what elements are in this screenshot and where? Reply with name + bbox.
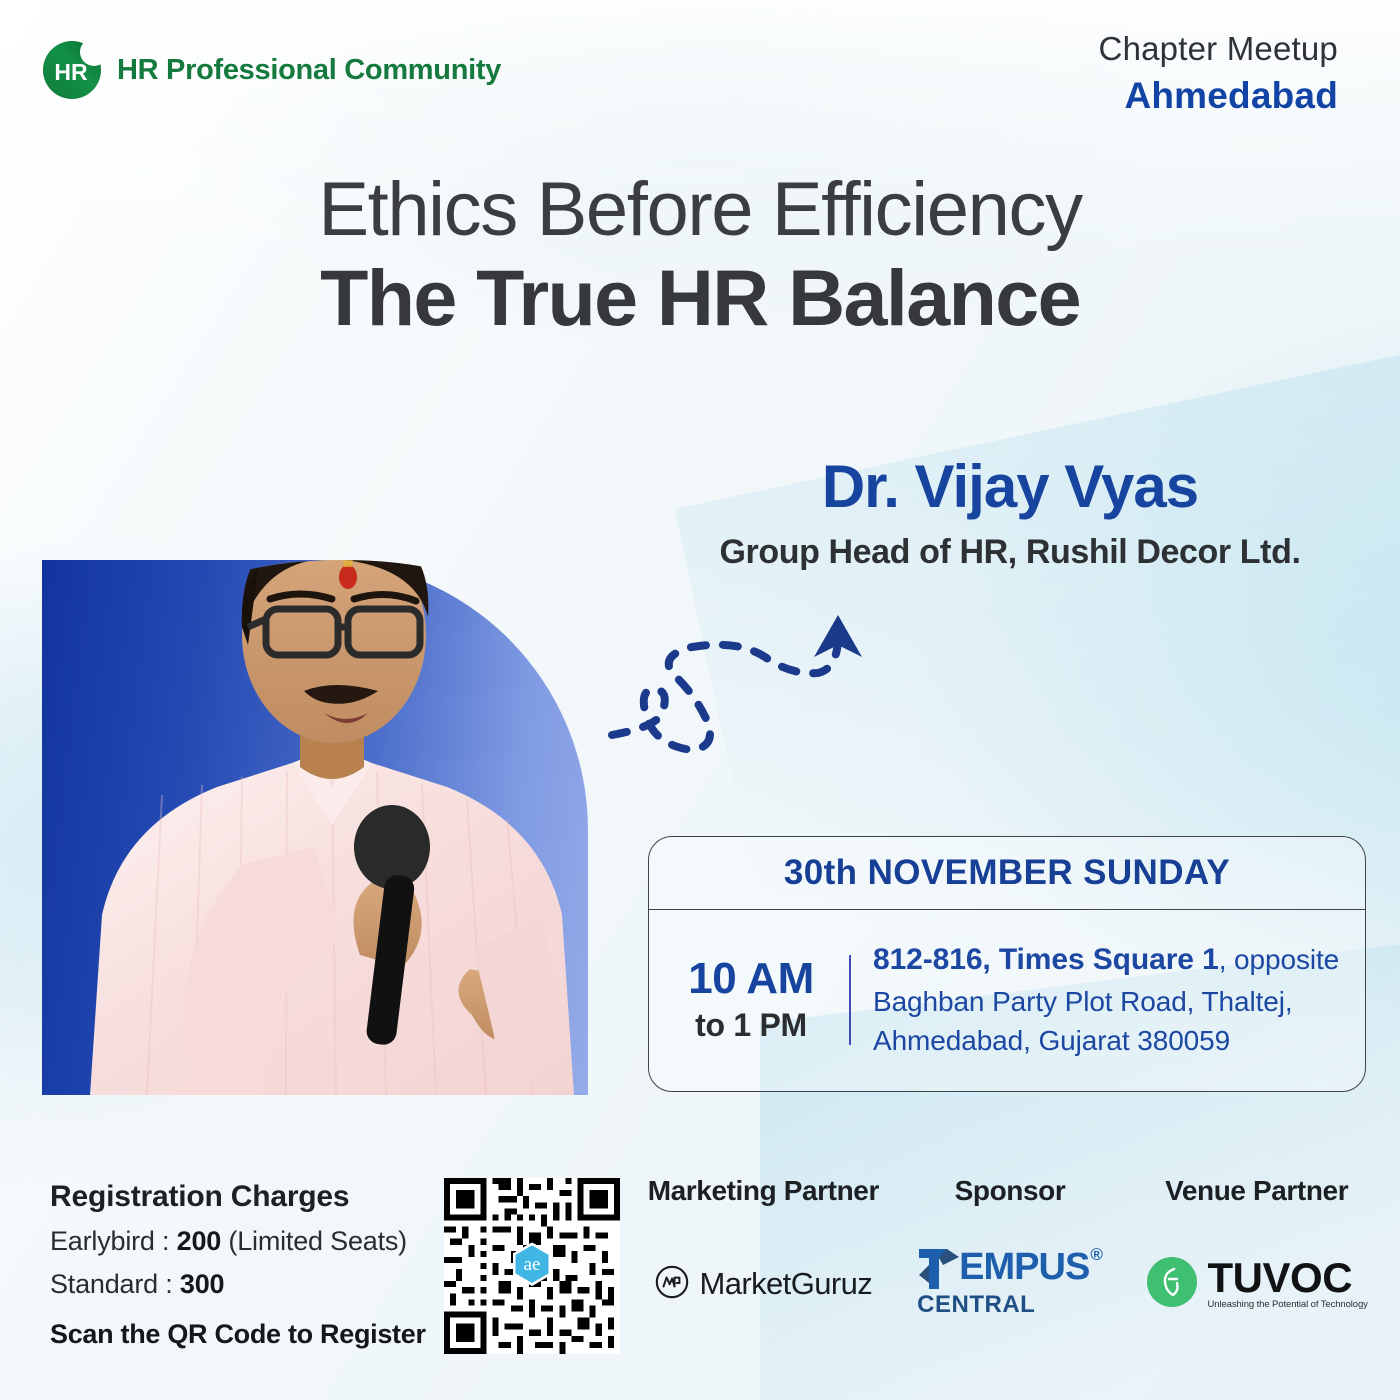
event-address: 812-816, Times Square 1, opposite Baghba… (851, 939, 1339, 1061)
standard-row: Standard : 300 (50, 1269, 430, 1300)
address-line-1-rest: , opposite (1219, 944, 1339, 975)
earlybird-row: Earlybird : 200 (Limited Seats) (50, 1226, 430, 1257)
marketguruz-logo: MarketGuruz (640, 1253, 887, 1315)
dashed-arrow-icon (600, 595, 900, 795)
meetup-kicker: Chapter Meetup (1099, 30, 1338, 69)
speaker-info: Dr. Vijay Vyas Group Head of HR, Rushil … (660, 455, 1360, 573)
tempus-word: EMPUS (959, 1249, 1089, 1285)
partner-marketing: Marketing Partner MarketGuruz (640, 1175, 887, 1315)
partner-heading: Marketing Partner (640, 1175, 887, 1207)
event-time: 10 AM to 1 PM (667, 955, 851, 1045)
registration-title: Registration Charges (50, 1180, 430, 1214)
tuvoc-word: TUVOC (1208, 1254, 1353, 1301)
scan-instruction: Scan the QR Code to Register (50, 1319, 430, 1350)
partner-heading: Venue Partner (1133, 1175, 1380, 1207)
event-poster: HR HR Professional Community Chapter Mee… (0, 0, 1400, 1400)
qr-code[interactable]: ae (444, 1178, 620, 1354)
time-end: to 1 PM (667, 1005, 835, 1045)
standard-value: 300 (180, 1269, 224, 1299)
address-line-2: Baghban Party Plot Road, Thaltej, (873, 982, 1339, 1022)
speaker-photo-block (42, 395, 618, 1095)
meetup-city: Ahmedabad (1099, 73, 1338, 119)
tuvoc-leaf-icon (1146, 1256, 1198, 1313)
registration-charges: Registration Charges Earlybird : 200 (Li… (50, 1180, 430, 1350)
page-title: Ethics Before Efficiency The True HR Bal… (0, 170, 1400, 341)
earlybird-value: 200 (177, 1226, 221, 1256)
tuvoc-logo: TUVOC Unleashing the Potential of Techno… (1133, 1253, 1380, 1315)
address-line-3: Ahmedabad, Gujarat 380059 (873, 1021, 1339, 1061)
tempus-t-icon (917, 1249, 959, 1291)
speaker-photo (42, 395, 618, 1095)
speaker-role: Group Head of HR, Rushil Decor Ltd. (660, 532, 1360, 573)
svg-text:ae: ae (524, 1254, 541, 1275)
partner-venue: Venue Partner TUVOC Unleashing the Poten… (1133, 1175, 1380, 1315)
standard-label: Standard : (50, 1269, 180, 1299)
partner-heading: Sponsor (887, 1175, 1134, 1207)
earlybird-note: (Limited Seats) (221, 1226, 407, 1256)
chapter-meetup-block: Chapter Meetup Ahmedabad (1099, 30, 1338, 119)
tuvoc-tagline: Unleashing the Potential of Technology (1208, 1299, 1368, 1310)
brand-name: HR Professional Community (117, 54, 501, 87)
partners-row: Marketing Partner MarketGuruz Sponsor (640, 1175, 1380, 1355)
registered-trademark-icon: ® (1090, 1245, 1103, 1265)
tempus-central-logo: EMPUS ® CENTRAL (887, 1253, 1134, 1315)
event-details-card: 30th NOVEMBER SUNDAY 10 AM to 1 PM 812-8… (648, 836, 1366, 1092)
svg-text:HR: HR (54, 59, 88, 85)
partner-sponsor: Sponsor EMPUS ® CENTR (887, 1175, 1134, 1315)
speaker-name: Dr. Vijay Vyas (660, 455, 1360, 520)
brand-lockup: HR HR Professional Community (42, 40, 501, 100)
earlybird-label: Earlybird : (50, 1226, 177, 1256)
time-start: 10 AM (667, 955, 835, 1003)
event-date: 30th NOVEMBER SUNDAY (649, 837, 1365, 910)
title-line-2: The True HR Balance (0, 255, 1400, 342)
marketguruz-label: MarketGuruz (700, 1266, 873, 1302)
hr-circle-logo-icon: HR (42, 40, 102, 100)
tempus-subtitle: CENTRAL (917, 1291, 1035, 1318)
title-line-1: Ethics Before Efficiency (0, 170, 1400, 251)
mg-monogram-icon (655, 1265, 689, 1304)
address-venue: 812-816, Times Square 1 (873, 943, 1219, 976)
